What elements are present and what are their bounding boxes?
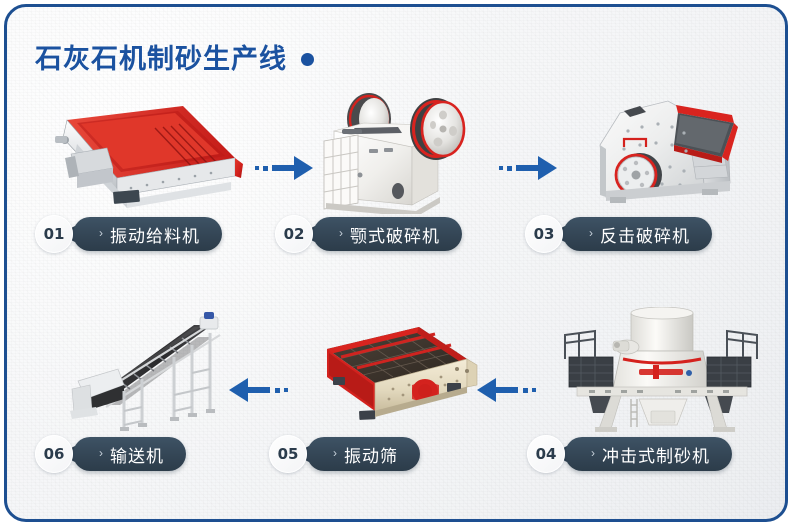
arrow-dot [523, 388, 528, 393]
step-pill-02[interactable]: › 颚式破碎机 [313, 217, 462, 251]
flow-arrow-01-02 [255, 155, 314, 181]
arrow-dot [532, 388, 536, 392]
step-pill-06[interactable]: › 输送机 [73, 437, 186, 471]
arrow-dot [507, 166, 512, 171]
machine-impact-crusher [572, 79, 767, 214]
belt-conveyor-icon [62, 307, 257, 437]
vibrating-screen-icon [299, 319, 484, 437]
step-label-01[interactable]: 01 › 振动给料机 [35, 215, 222, 253]
flow-arrow-02-03 [499, 155, 558, 181]
step-label-text-04: 冲击式制砂机 [602, 442, 710, 467]
machine-vibrating-screen [299, 319, 484, 437]
chevron-right-icon: › [591, 447, 595, 459]
title-dot-icon [301, 53, 314, 66]
arrow-dot [255, 166, 259, 170]
arrow-dot [275, 388, 280, 393]
arrow-right-icon [272, 155, 314, 181]
arrow-dot [284, 388, 288, 392]
chevron-right-icon: › [333, 447, 337, 459]
machine-vibrating-feeder [35, 92, 250, 212]
page-title-text: 石灰石机制砂生产线 [35, 37, 287, 76]
step-number-02: 02 [275, 215, 313, 253]
chevron-right-icon: › [589, 227, 593, 239]
page-title: 石灰石机制砂生产线 [35, 37, 314, 76]
step-number-04: 04 [527, 435, 565, 473]
flow-arrow-05-06 [229, 377, 288, 403]
flow-arrow-04-05 [477, 377, 536, 403]
arrow-dot [263, 166, 268, 171]
process-flow-card: 石灰石机制砂生产线 [4, 4, 788, 522]
arrow-left-icon [477, 377, 519, 403]
step-label-text-02: 颚式破碎机 [350, 222, 440, 247]
arrow-left-icon [229, 377, 271, 403]
step-pill-05[interactable]: › 振动筛 [307, 437, 420, 471]
step-label-text-05: 振动筛 [344, 442, 398, 467]
step-label-02[interactable]: 02 › 颚式破碎机 [275, 215, 462, 253]
step-pill-01[interactable]: › 振动给料机 [73, 217, 222, 251]
step-label-04[interactable]: 04 › 冲击式制砂机 [527, 435, 732, 473]
step-number-01: 01 [35, 215, 73, 253]
arrow-right-icon [516, 155, 558, 181]
chevron-right-icon: › [99, 447, 103, 459]
step-label-text-06: 输送机 [110, 442, 164, 467]
step-pill-03[interactable]: › 反击破碎机 [563, 217, 712, 251]
machine-jaw-crusher [312, 79, 487, 214]
machine-belt-conveyor [62, 307, 257, 437]
step-number-06: 06 [35, 435, 73, 473]
step-number-05: 05 [269, 435, 307, 473]
vibrating-feeder-icon [35, 92, 250, 212]
step-number-03: 03 [525, 215, 563, 253]
step-label-text-03: 反击破碎机 [600, 222, 690, 247]
step-pill-04[interactable]: › 冲击式制砂机 [565, 437, 732, 471]
vsi-sand-maker-icon [555, 307, 775, 437]
step-label-text-01: 振动给料机 [110, 222, 200, 247]
step-label-06[interactable]: 06 › 输送机 [35, 435, 186, 473]
impact-crusher-icon [572, 79, 767, 214]
machine-vsi-sand-maker [555, 307, 775, 437]
step-label-05[interactable]: 05 › 振动筛 [269, 435, 420, 473]
jaw-crusher-icon [312, 79, 487, 214]
chevron-right-icon: › [99, 227, 103, 239]
step-label-03[interactable]: 03 › 反击破碎机 [525, 215, 712, 253]
arrow-dot [499, 166, 503, 170]
chevron-right-icon: › [339, 227, 343, 239]
